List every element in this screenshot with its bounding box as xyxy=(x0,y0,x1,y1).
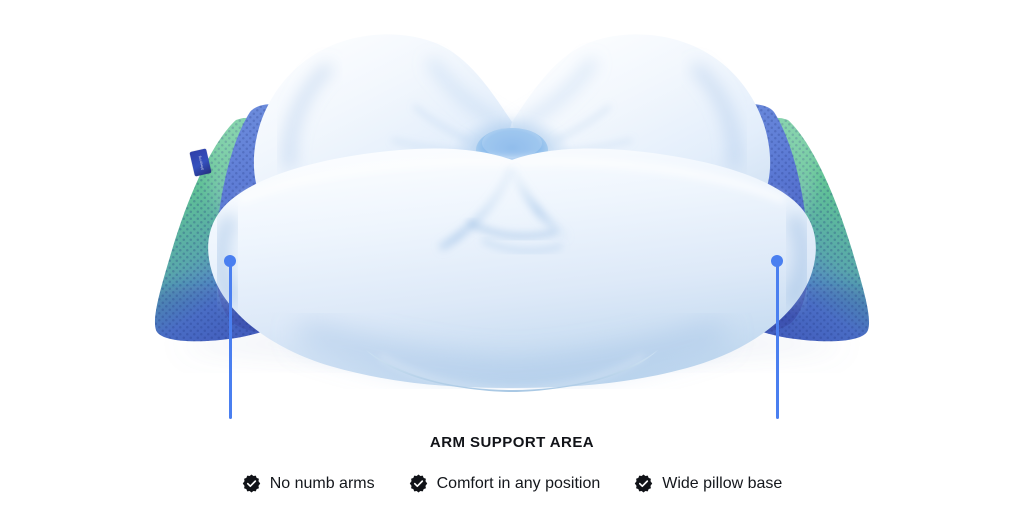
check-badge-icon xyxy=(242,474,261,493)
feature-item: Comfort in any position xyxy=(409,474,601,493)
feature-item: No numb arms xyxy=(242,474,375,493)
feature-label: Comfort in any position xyxy=(437,474,601,493)
feature-list: No numb arms Comfort in any position Wid… xyxy=(0,474,1024,493)
callout-line-left xyxy=(229,261,232,419)
check-badge-icon xyxy=(634,474,653,493)
callout-line-right xyxy=(776,261,779,419)
pillow-front-bolster xyxy=(208,148,816,388)
brand-tag-text: Sleeping xyxy=(197,155,204,170)
section-title: ARM SUPPORT AREA xyxy=(0,432,1024,454)
product-illustration xyxy=(0,0,1024,430)
feature-label: No numb arms xyxy=(270,474,375,493)
caption-block: ARM SUPPORT AREA No numb arms Comfort in… xyxy=(0,432,1024,493)
feature-item: Wide pillow base xyxy=(634,474,782,493)
check-badge-icon xyxy=(409,474,428,493)
product-infographic: Sleeping ARM SUPPORT AREA No numb arms xyxy=(0,0,1024,513)
feature-label: Wide pillow base xyxy=(662,474,782,493)
